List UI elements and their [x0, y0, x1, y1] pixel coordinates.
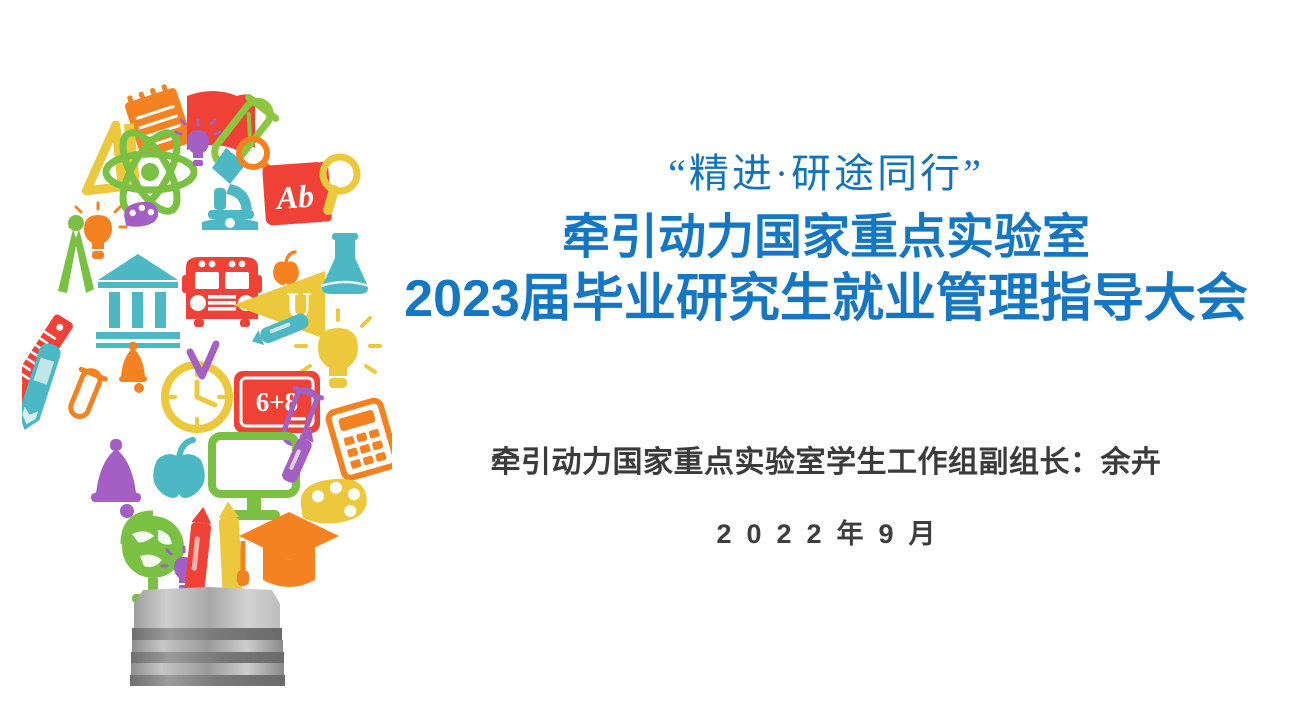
apple-orange-icon	[273, 252, 299, 285]
date-line: 2022年9月	[392, 512, 1260, 551]
presentation-slide: Ab	[0, 0, 1292, 712]
bell-orange-icon	[119, 342, 147, 393]
museum-building-icon	[96, 254, 180, 348]
page-title-line-1: 牵引动力国家重点实验室	[392, 213, 1260, 264]
apple-teal-icon	[153, 440, 205, 498]
microscope-icon	[202, 148, 258, 230]
pencil-red-icon	[184, 506, 213, 598]
bell-purple-icon	[91, 439, 141, 518]
test-tube-orange-icon	[64, 367, 106, 421]
page-title-line-2: 2023届毕业研究生就业管理指导大会	[392, 272, 1260, 327]
svg-text:Ab: Ab	[273, 177, 315, 216]
school-bus-icon	[182, 257, 262, 327]
palette-yellow-icon	[298, 475, 369, 528]
pen-icon	[22, 341, 63, 433]
calculator-icon	[327, 399, 392, 479]
flask-icon	[321, 233, 369, 294]
clock-icon	[165, 365, 229, 429]
bulb-screw-base	[130, 587, 285, 686]
magnifier-yellow-icon	[323, 157, 357, 210]
slide-text-block: “精进·研途同行” 牵引动力国家重点实验室 2023届毕业研究生就业管理指导大会…	[392, 0, 1292, 712]
education-lightbulb-illustration: Ab	[22, 66, 392, 686]
slide-tagline: “精进·研途同行”	[392, 152, 1260, 196]
presenter-line: 牵引动力国家重点实验室学生工作组副组长：余卉	[392, 437, 1260, 481]
